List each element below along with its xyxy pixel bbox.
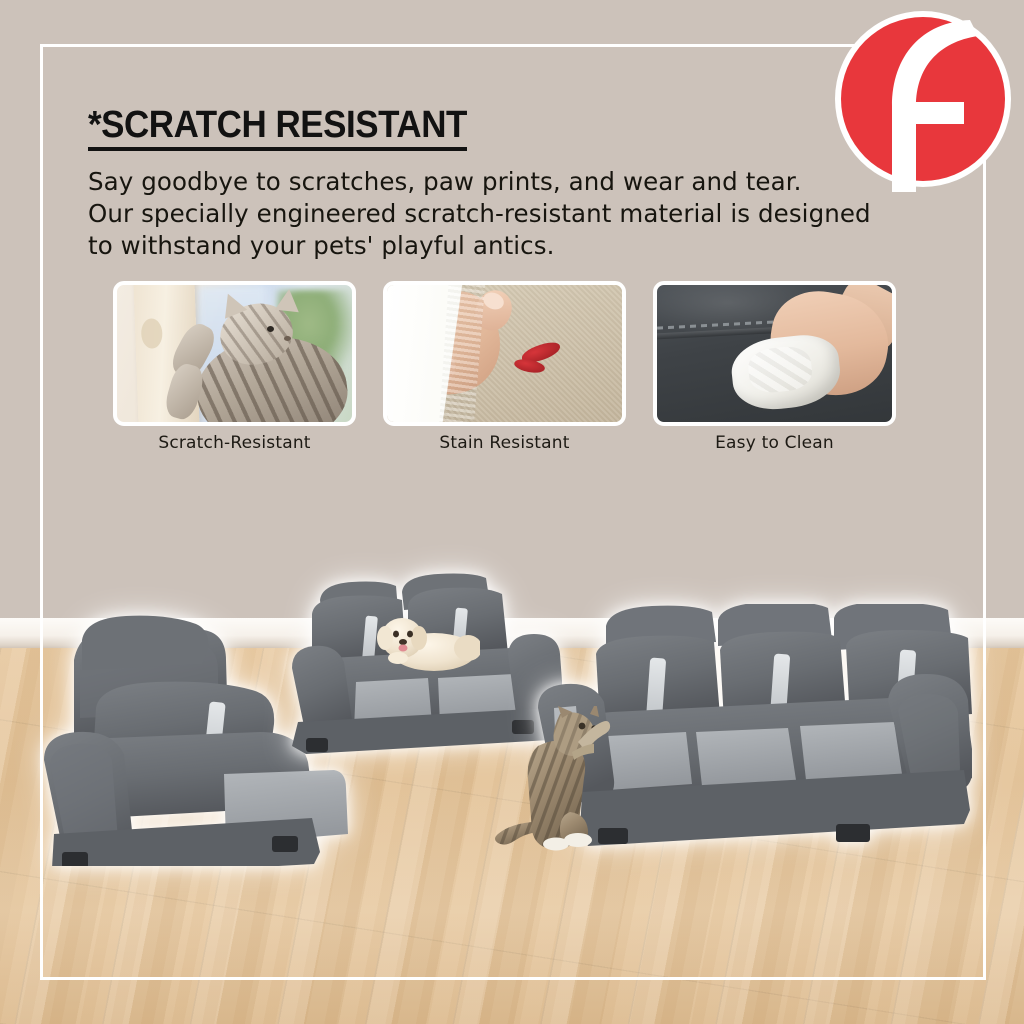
dog [372,608,480,674]
feature-card-scratch-resistant[interactable]: Scratch-Resistant [113,281,356,426]
cat [486,706,616,852]
feature-caption: Easy to Clean [653,433,896,453]
feature-card-list: Scratch-Resistant Stain Resistant [113,281,913,456]
title-underline [88,147,467,151]
brand-logo[interactable] [830,6,1016,192]
cloth-cleaning-photo [653,281,896,426]
feature-card-stain-resistant[interactable]: Stain Resistant [383,281,626,426]
description-line-2: Our specially engineered scratch-resista… [88,198,918,230]
feature-card-easy-to-clean[interactable]: Easy to Clean [653,281,896,426]
description-text: Say goodbye to scratches, paw prints, an… [88,166,918,262]
cat-scratching-photo [113,281,356,426]
description-line-1: Say goodbye to scratches, paw prints, an… [88,166,918,198]
feature-caption: Stain Resistant [383,433,626,453]
description-line-3: to withstand your pets' playful antics. [88,230,918,262]
promo-banner: *SCRATCH RESISTANT Say goodbye to scratc… [0,0,1024,1024]
stain-wipe-photo [383,281,626,426]
feature-caption: Scratch-Resistant [113,433,356,453]
page-title: *SCRATCH RESISTANT [88,104,467,147]
